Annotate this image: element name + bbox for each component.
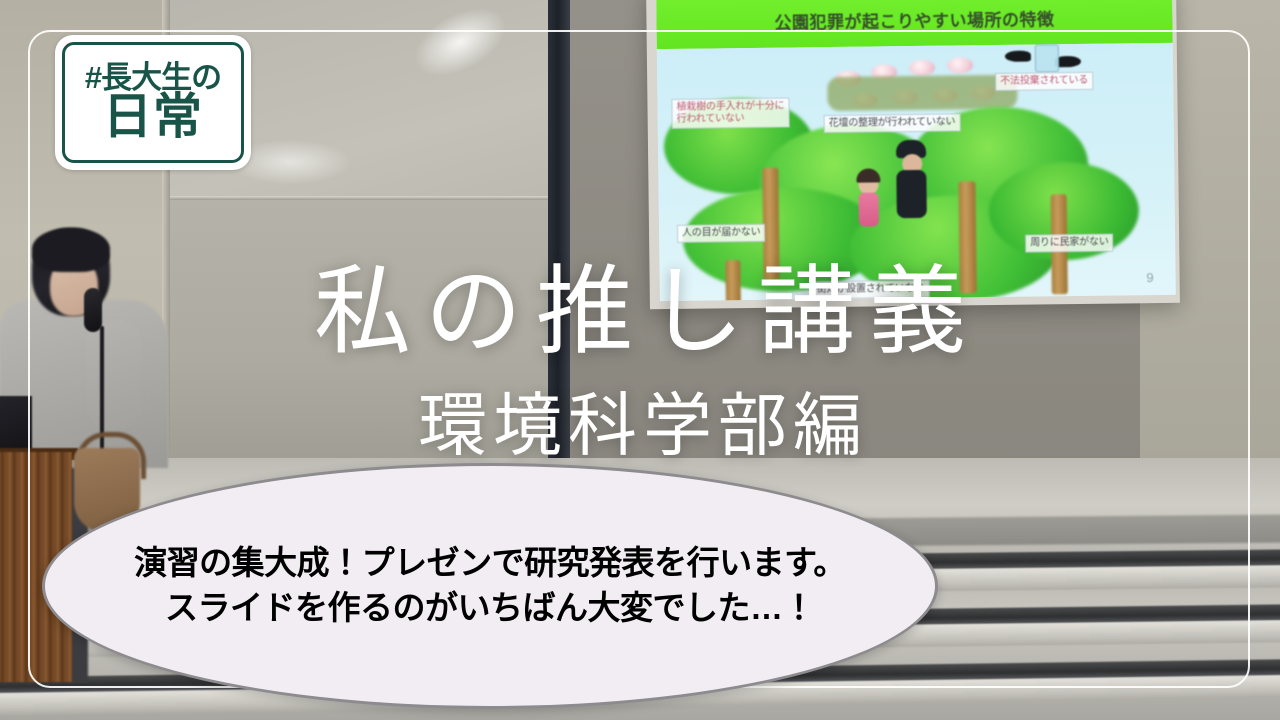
page-subtitle: 環境科学部編 bbox=[0, 390, 1280, 462]
trash-bin-icon bbox=[1035, 44, 1059, 72]
series-badge-inner: #長大生の 日常 bbox=[62, 42, 244, 163]
caption-line-2: スライドを作るのがいちばん大変でした…！ bbox=[165, 589, 815, 628]
presentation-slide: 公園犯罪が起こりやすい場所の特徴 bbox=[656, 0, 1176, 301]
caption-line-1: 演習の集大成！プレゼンで研究発表を行います。 bbox=[134, 544, 846, 583]
figure-adult bbox=[896, 170, 927, 218]
whiteboard-glare bbox=[403, 0, 518, 90]
hedge-strip bbox=[827, 75, 1017, 111]
slide-callout: 人の目が届かない bbox=[677, 224, 766, 243]
series-badge-title: 日常 bbox=[103, 93, 203, 143]
series-badge-hashtag: #長大生の bbox=[85, 62, 221, 93]
series-badge: #長大生の 日常 bbox=[55, 35, 251, 170]
page-title: 私の推し講義 bbox=[0, 262, 1280, 365]
slide-callout: 周りに民家がない bbox=[1025, 234, 1114, 253]
caption-bubble: 演習の集大成！プレゼンで研究発表を行います。 スライドを作るのがいちばん大変でし… bbox=[42, 463, 938, 709]
whiteboard-rail bbox=[170, 196, 555, 200]
slide-callout: 植栽樹の手入れが十分に 行われていない bbox=[671, 98, 789, 129]
crow-icon bbox=[1005, 51, 1031, 62]
slide-header-band: 公園犯罪が起こりやすい場所の特徴 bbox=[656, 0, 1173, 49]
slide-callout: 花壇の整理が行われていない bbox=[824, 113, 961, 133]
flowerbed-clump bbox=[947, 57, 973, 73]
flowerbed-clump bbox=[909, 60, 935, 76]
image-canvas: 公園犯罪が起こりやすい場所の特徴 bbox=[0, 0, 1280, 720]
slide-title-text: 公園犯罪が起こりやすい場所の特徴 bbox=[774, 5, 1054, 33]
slide-callout: 不法投棄されている bbox=[995, 72, 1093, 91]
figure-child bbox=[859, 192, 879, 226]
